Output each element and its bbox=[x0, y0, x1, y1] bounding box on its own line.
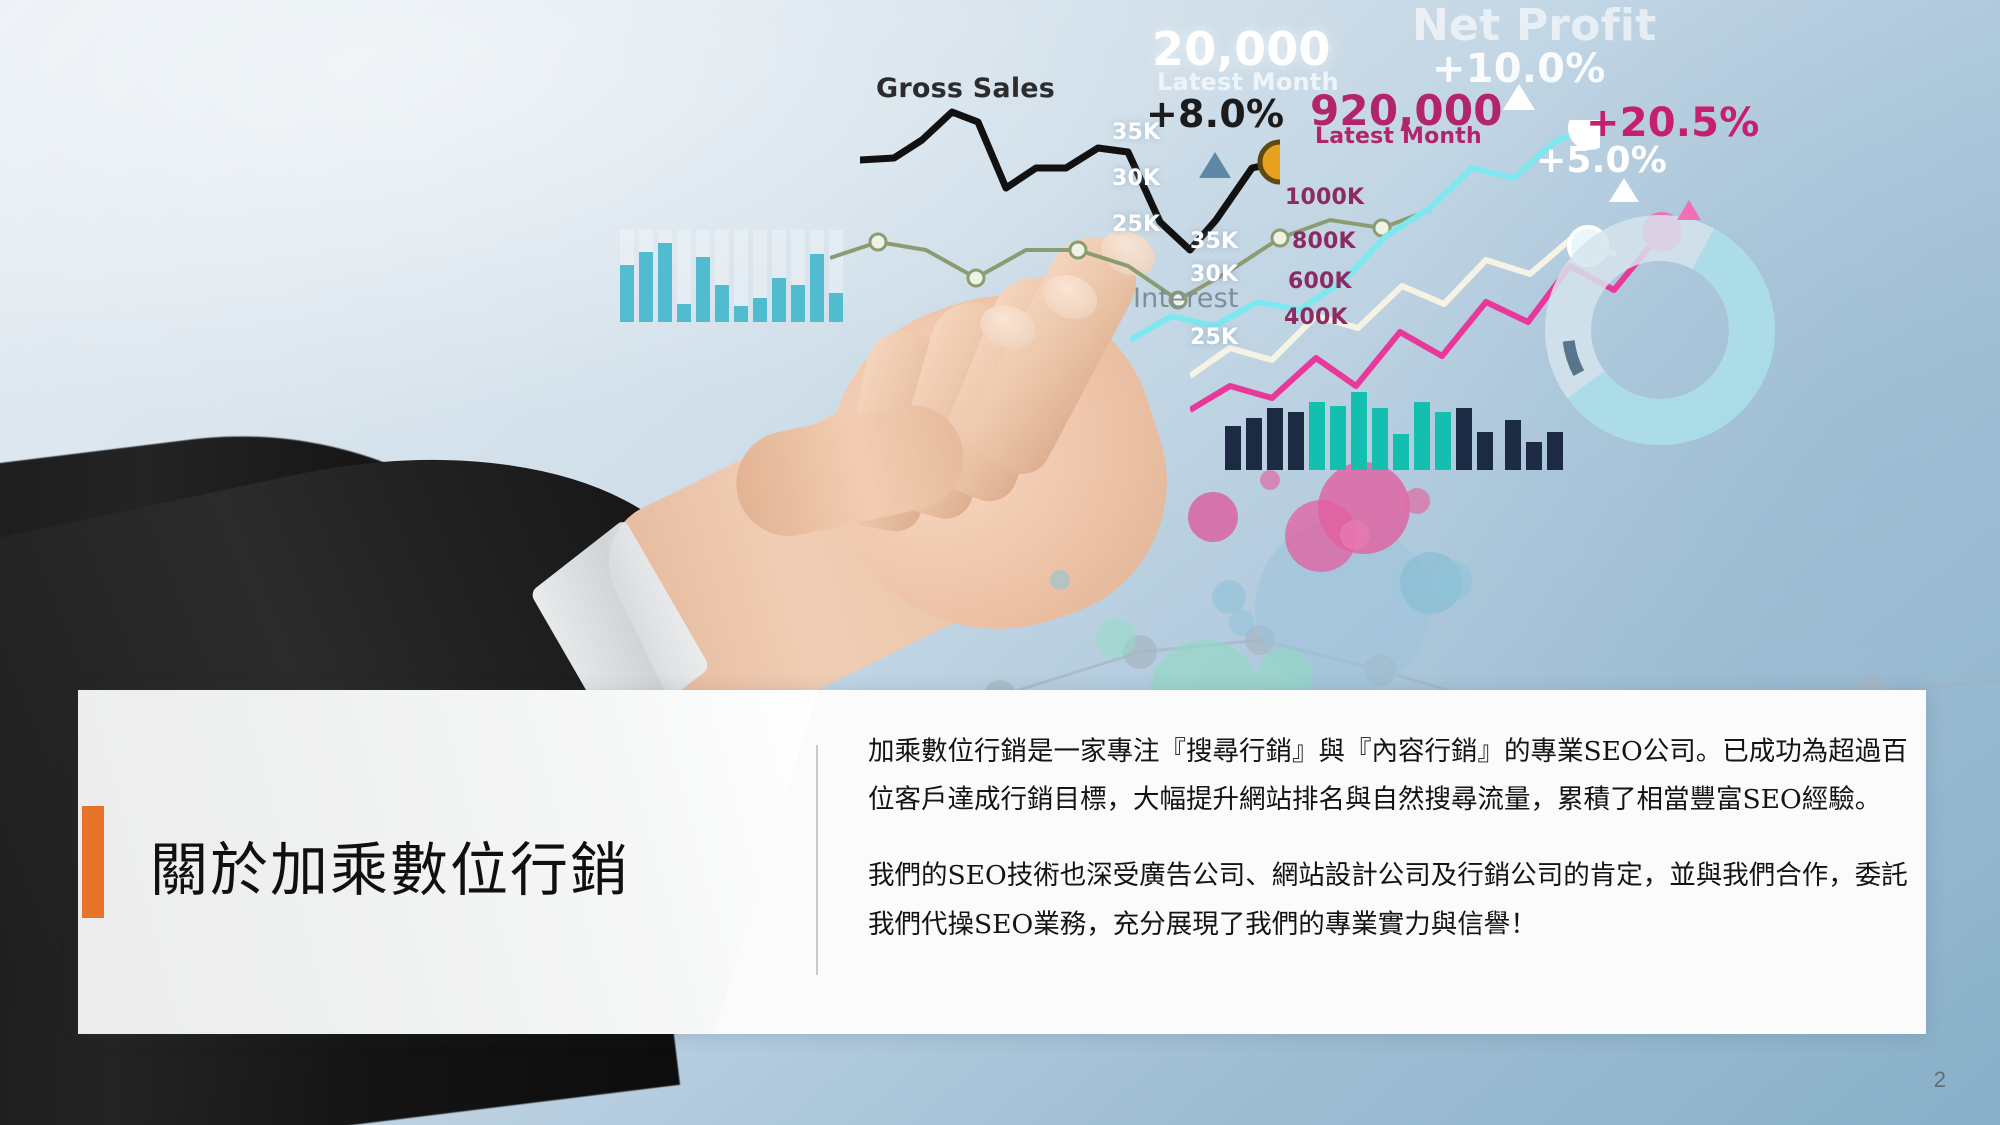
slide-canvas: Gross Sales 20,000 Latest Month +8.0% 92… bbox=[0, 0, 2000, 1125]
body-paragraph-2: 我們的SEO技術也深受廣告公司、網站設計公司及行銷公司的肯定，並與我們合作，委託… bbox=[868, 852, 1908, 948]
bubble-blue-2 bbox=[1430, 560, 1472, 602]
graphic-axis-25k-b: 25K bbox=[1190, 325, 1238, 350]
graphic-axis-30k-a: 30K bbox=[1112, 166, 1160, 191]
bar-chart-left bbox=[620, 230, 860, 325]
bubble-pink-5 bbox=[1260, 470, 1280, 490]
graphic-axis-400k: 400K bbox=[1284, 305, 1348, 330]
graphic-label-interest: Interest bbox=[1133, 283, 1239, 314]
graphic-axis-1000k: 1000K bbox=[1285, 185, 1364, 210]
bubble-blue-4 bbox=[1229, 610, 1255, 636]
donut-chart bbox=[1530, 200, 1790, 460]
graphic-value-pct-10: +10.0% bbox=[1432, 46, 1606, 92]
graphic-axis-600k: 600K bbox=[1288, 269, 1352, 294]
graphic-axis-800k: 800K bbox=[1292, 229, 1356, 254]
bubble-blue-3 bbox=[1212, 580, 1246, 614]
graphic-value-pct-8: +8.0% bbox=[1146, 92, 1284, 136]
graphic-label-gross-sales: Gross Sales bbox=[876, 73, 1055, 104]
bubble-pink-4 bbox=[1340, 520, 1370, 550]
body-text-block: 加乘數位行銷是一家專注『搜尋行銷』與『內容行銷』的專業SEO公司。已成功為超過百… bbox=[868, 728, 1908, 949]
title-accent-bar bbox=[82, 806, 104, 918]
graphic-value-pct-5: +5.0% bbox=[1536, 140, 1667, 181]
graphic-axis-25k-a: 25K bbox=[1112, 212, 1160, 237]
graphic-label-latest-month-2: Latest Month bbox=[1315, 124, 1482, 149]
bubble-teal-3 bbox=[1096, 618, 1136, 658]
bubble-pink-6 bbox=[1404, 488, 1430, 514]
page-number: 2 bbox=[1934, 1067, 1946, 1093]
bubble-pink-3 bbox=[1188, 492, 1238, 542]
triangle-marker-blue bbox=[1198, 150, 1232, 180]
graphic-axis-35k-a: 35K bbox=[1112, 120, 1160, 145]
title-body-divider bbox=[816, 745, 818, 975]
bubble-blue-5 bbox=[1050, 570, 1070, 590]
graphic-label-net-profit: Net Profit bbox=[1412, 0, 1656, 51]
body-paragraph-1: 加乘數位行銷是一家專注『搜尋行銷』與『內容行銷』的專業SEO公司。已成功為超過百… bbox=[868, 728, 1908, 824]
bar-chart-right bbox=[1225, 390, 1505, 470]
graphic-axis-35k-b: 35K bbox=[1190, 229, 1238, 254]
page-title: 關於加乘數位行銷 bbox=[150, 790, 750, 940]
triangle-marker-pink bbox=[1676, 198, 1702, 222]
